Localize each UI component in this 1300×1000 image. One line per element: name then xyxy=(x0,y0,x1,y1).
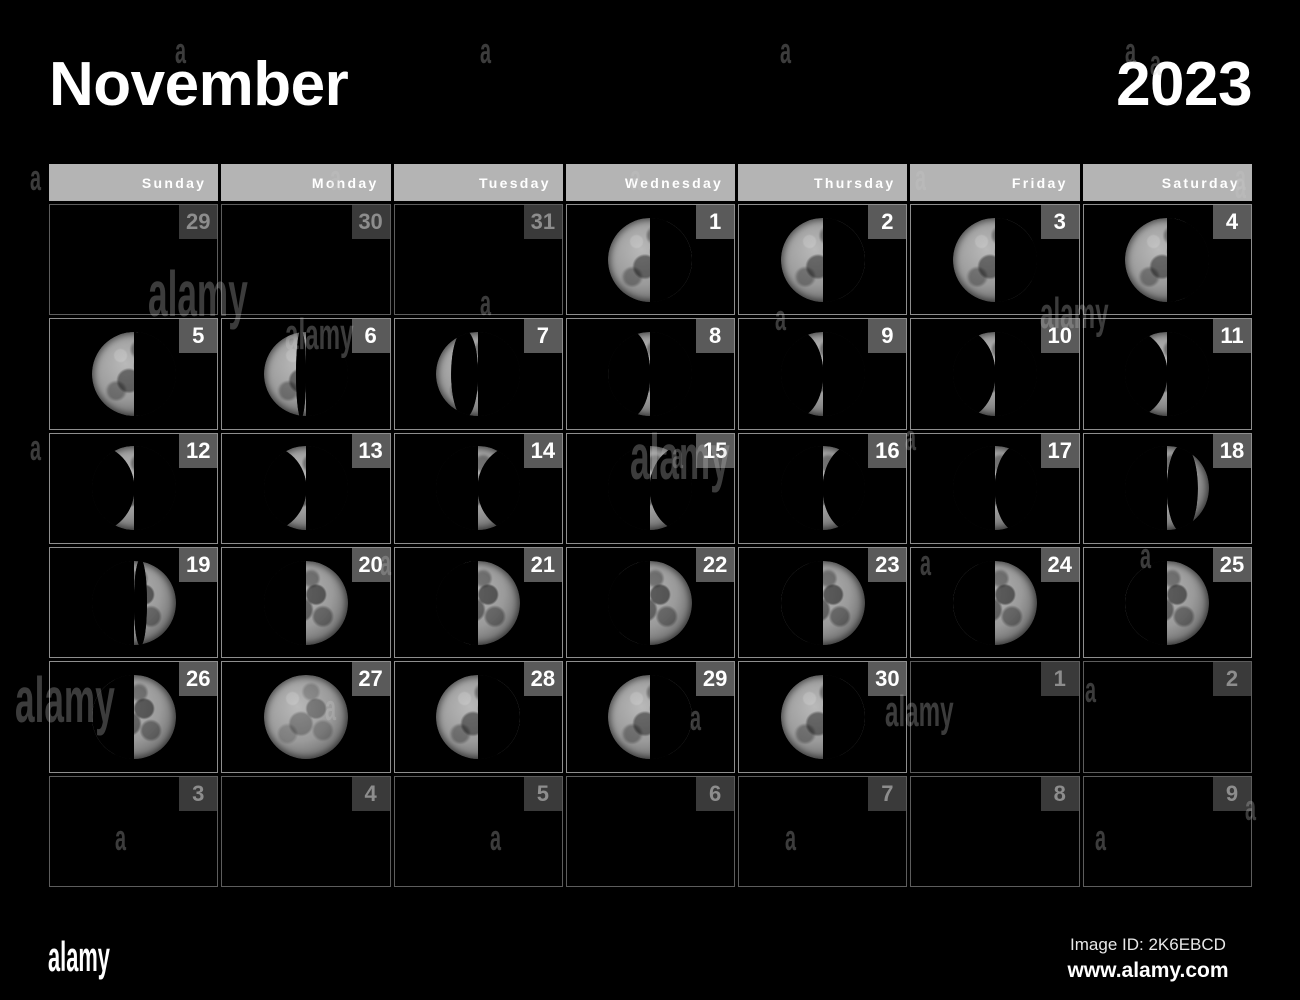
day-cell-12[interactable]: 12 xyxy=(49,433,218,544)
weekday-header-sunday: Sunday xyxy=(49,164,218,201)
day-cell-30[interactable]: 30 xyxy=(738,661,907,772)
moon-phase-waning-crescent-icon xyxy=(953,332,1037,416)
weekday-header-wednesday: Wednesday xyxy=(566,164,735,201)
day-cell-2-adjacent[interactable]: 2 xyxy=(1083,661,1252,772)
day-number-badge: 25 xyxy=(1213,548,1251,582)
day-cell-26[interactable]: 26 xyxy=(49,661,218,772)
day-cell-13[interactable]: 13 xyxy=(221,433,390,544)
day-cell-14[interactable]: 14 xyxy=(394,433,563,544)
day-cell-3[interactable]: 3 xyxy=(910,204,1079,315)
footer-bar: alamy Image ID: 2K6EBCD www.alamy.com xyxy=(0,918,1300,1000)
day-cell-8[interactable]: 8 xyxy=(566,318,735,429)
weekday-header-friday: Friday xyxy=(910,164,1079,201)
day-cell-6-adjacent[interactable]: 6 xyxy=(566,776,735,887)
day-cell-29[interactable]: 29 xyxy=(566,661,735,772)
moon-phase-first-quarter-icon xyxy=(264,561,348,645)
day-cell-31-adjacent[interactable]: 31 xyxy=(394,204,563,315)
weekday-label: Wednesday xyxy=(625,175,723,191)
moon-phase-waning-gibbous-icon xyxy=(953,218,1037,302)
day-number-badge: 7 xyxy=(868,777,906,811)
calendar-week-row: 262728293012 xyxy=(49,661,1252,772)
day-number-badge: 5 xyxy=(524,777,562,811)
moon-phase-waning-gibbous-icon xyxy=(781,675,865,759)
day-number-badge: 26 xyxy=(179,662,217,696)
moon-phase-waxing-gibbous-icon xyxy=(436,561,520,645)
calendar-page: November 2023 SundayMondayTuesdayWednesd… xyxy=(0,0,1300,1000)
day-cell-30-adjacent[interactable]: 30 xyxy=(221,204,390,315)
moon-phase-waxing-crescent-icon xyxy=(781,446,865,530)
moon-phase-waning-crescent-icon xyxy=(264,332,348,416)
day-number-badge: 19 xyxy=(179,548,217,582)
day-number-badge: 8 xyxy=(1041,777,1079,811)
day-number-badge: 22 xyxy=(696,548,734,582)
day-cell-23[interactable]: 23 xyxy=(738,547,907,658)
day-number-badge: 1 xyxy=(1041,662,1079,696)
day-cell-7-adjacent[interactable]: 7 xyxy=(738,776,907,887)
calendar-week-row: 19202122232425 xyxy=(49,547,1252,658)
weekday-label: Tuesday xyxy=(479,175,551,191)
moon-phase-waxing-gibbous-icon xyxy=(781,561,865,645)
moon-phase-last-quarter-icon xyxy=(92,332,176,416)
moon-phase-waxing-gibbous-icon xyxy=(608,561,692,645)
moon-phase-full-moon-icon xyxy=(264,675,348,759)
day-cell-22[interactable]: 22 xyxy=(566,547,735,658)
calendar-week-row: 12131415161718 xyxy=(49,433,1252,544)
day-number-badge: 18 xyxy=(1213,434,1251,468)
day-number-badge: 2 xyxy=(1213,662,1251,696)
page-title: November 2023 xyxy=(49,47,1252,122)
day-number-badge: 28 xyxy=(524,662,562,696)
image-id-label: Image ID: 2K6EBCD xyxy=(1018,934,1278,957)
calendar-week-row: 3456789 xyxy=(49,776,1252,887)
footer-meta: Image ID: 2K6EBCD www.alamy.com xyxy=(1018,934,1278,985)
day-cell-5-adjacent[interactable]: 5 xyxy=(394,776,563,887)
moon-phase-waxing-gibbous-icon xyxy=(1125,561,1209,645)
moon-phase-waxing-crescent-icon xyxy=(1125,446,1209,530)
day-number-badge: 9 xyxy=(868,319,906,353)
day-number-badge: 29 xyxy=(696,662,734,696)
day-cell-29-adjacent[interactable]: 29 xyxy=(49,204,218,315)
moon-phase-waning-gibbous-icon xyxy=(608,218,692,302)
day-number-badge: 5 xyxy=(179,319,217,353)
moon-phase-waning-crescent-icon xyxy=(92,446,176,530)
day-cell-25[interactable]: 25 xyxy=(1083,547,1252,658)
day-cell-2[interactable]: 2 xyxy=(738,204,907,315)
day-number-badge: 23 xyxy=(868,548,906,582)
moon-phase-waning-crescent-icon xyxy=(781,332,865,416)
weekday-label: Monday xyxy=(312,175,379,191)
weekday-label: Sunday xyxy=(142,175,206,191)
weekday-label: Friday xyxy=(1012,175,1068,191)
moon-phase-waning-crescent-icon xyxy=(608,332,692,416)
moon-phase-waning-gibbous-icon xyxy=(1125,218,1209,302)
day-cell-4[interactable]: 4 xyxy=(1083,204,1252,315)
moon-phase-waxing-gibbous-icon xyxy=(953,561,1037,645)
moon-phase-waxing-crescent-icon xyxy=(608,446,692,530)
day-cell-1[interactable]: 1 xyxy=(566,204,735,315)
day-number-badge: 29 xyxy=(179,205,217,239)
day-cell-17[interactable]: 17 xyxy=(910,433,1079,544)
day-cell-16[interactable]: 16 xyxy=(738,433,907,544)
day-number-badge: 6 xyxy=(696,777,734,811)
day-cell-9[interactable]: 9 xyxy=(738,318,907,429)
day-number-badge: 13 xyxy=(352,434,390,468)
weekday-header-row: SundayMondayTuesdayWednesdayThursdayFrid… xyxy=(49,164,1252,201)
day-cell-7[interactable]: 7 xyxy=(394,318,563,429)
title-year: 2023 xyxy=(1116,54,1252,116)
calendar-week-row: 567891011 xyxy=(49,318,1252,429)
watermark-text: a xyxy=(30,160,41,196)
day-number-badge: 24 xyxy=(1041,548,1079,582)
day-number-badge: 31 xyxy=(524,205,562,239)
weekday-header-tuesday: Tuesday xyxy=(394,164,563,201)
day-number-badge: 27 xyxy=(352,662,390,696)
day-cell-15[interactable]: 15 xyxy=(566,433,735,544)
day-number-badge: 4 xyxy=(352,777,390,811)
day-number-badge: 30 xyxy=(352,205,390,239)
day-cell-1-adjacent[interactable]: 1 xyxy=(910,661,1079,772)
day-number-badge: 12 xyxy=(179,434,217,468)
alamy-logo: alamy xyxy=(48,936,110,978)
weekday-label: Saturday xyxy=(1162,175,1240,191)
day-number-badge: 3 xyxy=(1041,205,1079,239)
day-number-badge: 16 xyxy=(868,434,906,468)
day-cell-10[interactable]: 10 xyxy=(910,318,1079,429)
weekday-header-monday: Monday xyxy=(221,164,390,201)
alamy-url-label: www.alamy.com xyxy=(1018,957,1278,985)
day-number-badge: 7 xyxy=(524,319,562,353)
day-number-badge: 17 xyxy=(1041,434,1079,468)
moon-phase-waxing-gibbous-icon xyxy=(92,675,176,759)
day-number-badge: 21 xyxy=(524,548,562,582)
day-cell-19[interactable]: 19 xyxy=(49,547,218,658)
day-cell-3-adjacent[interactable]: 3 xyxy=(49,776,218,887)
day-cell-9-adjacent[interactable]: 9 xyxy=(1083,776,1252,887)
day-number-badge: 6 xyxy=(352,319,390,353)
weekday-header-thursday: Thursday xyxy=(738,164,907,201)
day-number-badge: 1 xyxy=(696,205,734,239)
moon-phase-waning-gibbous-icon xyxy=(436,675,520,759)
day-cell-8-adjacent[interactable]: 8 xyxy=(910,776,1079,887)
day-number-badge: 20 xyxy=(352,548,390,582)
title-month: November xyxy=(49,54,348,116)
calendar-weeks: 2930311234567891011121314151617181920212… xyxy=(49,204,1252,887)
day-number-badge: 15 xyxy=(696,434,734,468)
moon-phase-waning-crescent-icon xyxy=(436,332,520,416)
moon-phase-waning-crescent-icon xyxy=(1125,332,1209,416)
day-cell-11[interactable]: 11 xyxy=(1083,318,1252,429)
day-cell-4-adjacent[interactable]: 4 xyxy=(221,776,390,887)
day-number-badge: 30 xyxy=(868,662,906,696)
watermark-text: a xyxy=(30,430,41,466)
day-cell-27[interactable]: 27 xyxy=(221,661,390,772)
weekday-header-saturday: Saturday xyxy=(1083,164,1252,201)
day-number-badge: 3 xyxy=(179,777,217,811)
day-cell-21[interactable]: 21 xyxy=(394,547,563,658)
day-number-badge: 4 xyxy=(1213,205,1251,239)
calendar-week-row: 2930311234 xyxy=(49,204,1252,315)
moon-phase-waxing-crescent-icon xyxy=(953,446,1037,530)
day-cell-24[interactable]: 24 xyxy=(910,547,1079,658)
moon-phase-waning-gibbous-icon xyxy=(781,218,865,302)
moon-phase-waxing-crescent-icon xyxy=(436,446,520,530)
weekday-label: Thursday xyxy=(814,175,895,191)
day-cell-6[interactable]: 6 xyxy=(221,318,390,429)
day-number-badge: 8 xyxy=(696,319,734,353)
day-number-badge: 9 xyxy=(1213,777,1251,811)
day-cell-18[interactable]: 18 xyxy=(1083,433,1252,544)
day-number-badge: 14 xyxy=(524,434,562,468)
moon-phase-waxing-crescent-icon xyxy=(92,561,176,645)
day-cell-28[interactable]: 28 xyxy=(394,661,563,772)
day-cell-20[interactable]: 20 xyxy=(221,547,390,658)
moon-phase-new-moon-icon xyxy=(264,446,348,530)
day-number-badge: 10 xyxy=(1041,319,1079,353)
day-number-badge: 11 xyxy=(1213,319,1251,353)
day-cell-5[interactable]: 5 xyxy=(49,318,218,429)
moon-phase-waning-gibbous-icon xyxy=(608,675,692,759)
calendar-grid: SundayMondayTuesdayWednesdayThursdayFrid… xyxy=(49,164,1252,887)
day-number-badge: 2 xyxy=(868,205,906,239)
